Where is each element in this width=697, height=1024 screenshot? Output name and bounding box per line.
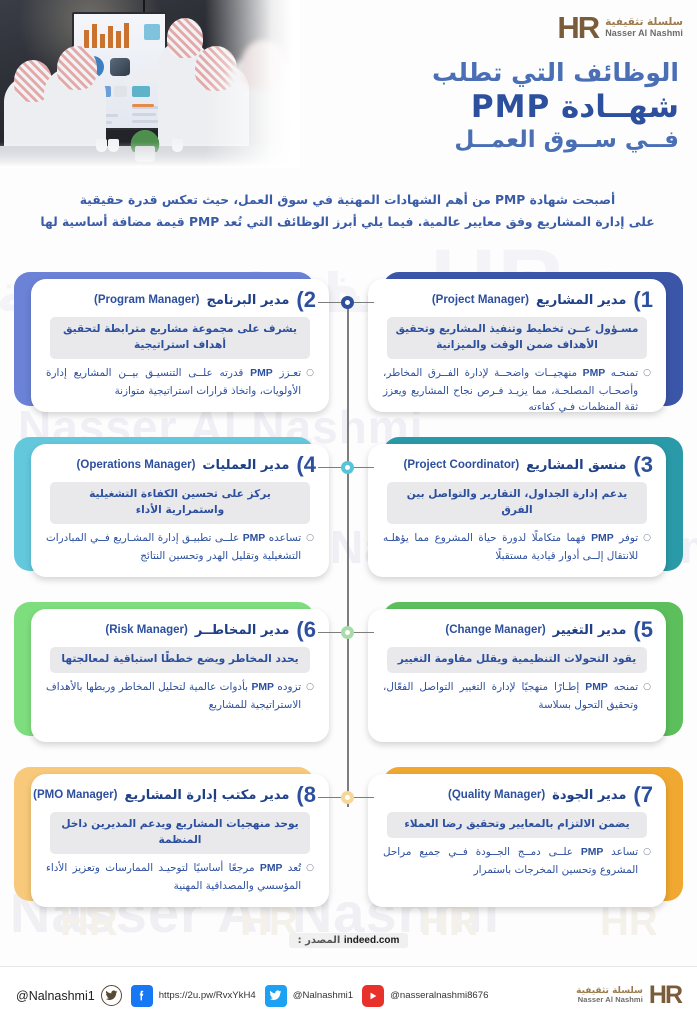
hr-monogram-icon: HR <box>557 12 598 43</box>
connector-node-row-2 <box>341 461 355 475</box>
job-card-5: 5مدير التغيير(Change Manager)يقود التحول… <box>368 602 683 742</box>
card-role-arabic: مدير الجودة <box>552 788 626 803</box>
card-header: 7مدير الجودة(Quality Manager) <box>381 784 653 806</box>
title-line-2: شهــادة PMP <box>259 89 679 127</box>
bullet-marker-icon: ○ <box>306 860 314 895</box>
card-description: يوحد منهجيات المشاريع ويدعم المديرين داخ… <box>50 812 310 854</box>
connector-dot <box>341 626 354 639</box>
card-number: 3 <box>633 454 653 476</box>
card-number: 1 <box>633 289 653 311</box>
bullet-marker-icon: ○ <box>643 844 651 879</box>
bullet-marker-icon: ○ <box>643 365 651 417</box>
intro-paragraph: أصبحت شهادة PMP من أهم الشهادات المهنية … <box>20 190 675 233</box>
connector-stem-right <box>354 302 374 303</box>
source-note: indeed.com المصدر : <box>289 933 409 948</box>
card-panel: 8مدير مكتب إدارة المشاريع(PMO Manager)يو… <box>31 774 329 907</box>
bullet-marker-icon: ○ <box>306 530 314 565</box>
bullet-marker-icon: ○ <box>306 365 314 400</box>
job-card-4: 4مدير العمليات(Operations Manager)يركز ع… <box>14 437 329 577</box>
card-bullet-text: توفر PMP فهما متكاملًا لدورة حياة المشرو… <box>383 530 638 565</box>
connector-stem-left <box>318 797 342 798</box>
card-description: يضمن الالتزام بالمعايير وتحقيق رضا العمل… <box>387 812 647 838</box>
card-bullet-text: تعـزز PMP قدرته علــى التنسيـق بيــن الم… <box>46 365 301 400</box>
card-role-english: (Quality Manager) <box>448 789 545 801</box>
connector-stem-left <box>318 302 342 303</box>
bullet-marker-icon: ○ <box>643 530 651 565</box>
card-bullet-text: تُعد PMP مرجعًا أساسيًا لتوحيـد الممارسا… <box>46 860 301 895</box>
footer-item-twitter-ring[interactable]: @Nalnashmi1 <box>16 985 122 1006</box>
connector-node-row-3 <box>341 626 355 640</box>
job-card-1: 1مدير المشاريع(Project Manager)مسـؤول عـ… <box>368 272 683 412</box>
card-role-arabic: مدير العمليات <box>202 458 289 473</box>
card-role-english: (PMO Manager) <box>33 789 117 801</box>
footer-bar: @Nalnashmi1 https://2u.pw/RvxYkH4 @Nalna… <box>0 966 697 1024</box>
footer-item-youtube[interactable]: @nasseralnashmi8676 <box>362 985 488 1007</box>
card-header: 4مدير العمليات(Operations Manager) <box>44 454 316 476</box>
card-description: يشرف على مجموعة مشاريع مترابطة لتحقيق أه… <box>50 317 310 359</box>
card-description: يدعم إدارة الجداول، التقارير والتواصل بي… <box>387 482 647 524</box>
card-number: 7 <box>633 784 653 806</box>
card-role-english: (Change Manager) <box>445 624 545 636</box>
card-header: 5مدير التغيير(Change Manager) <box>381 619 653 641</box>
intro-line-1: أصبحت شهادة PMP من أهم الشهادات المهنية … <box>20 190 675 212</box>
brand-logo-english: Nasser Al Nashmi <box>605 28 683 38</box>
card-panel: 7مدير الجودة(Quality Manager)يضمن الالتز… <box>368 774 666 907</box>
connector-stem-left <box>318 632 342 633</box>
bullet-marker-icon: ○ <box>306 679 314 714</box>
card-bullet: ○تساعده PMP علــى تطبيـق إدارة المشـاريع… <box>44 530 316 565</box>
connector-dot <box>341 296 354 309</box>
job-card-8: 8مدير مكتب إدارة المشاريع(PMO Manager)يو… <box>14 767 329 907</box>
footer-handle-3: @nasseralnashmi8676 <box>390 990 488 1001</box>
connector-stem-left <box>318 467 342 468</box>
card-panel: 1مدير المشاريع(Project Manager)مسـؤول عـ… <box>368 279 666 412</box>
card-bullet: ○تمنحـه PMP منهجيــات واضحــة لإدارة الف… <box>381 365 653 417</box>
card-bullet: ○تساعد PMP علــى دمــج الجــودة فــي جمي… <box>381 844 653 879</box>
card-header: 2مدير البرنامج(Program Manager) <box>44 289 316 311</box>
card-role-english: (Project Coordinator) <box>404 459 520 471</box>
connector-stem-right <box>354 467 374 468</box>
card-number: 6 <box>296 619 316 641</box>
card-header: 6مدير المخاطــر(Risk Manager) <box>44 619 316 641</box>
card-bullet: ○تمنحه PMP إطـارًا منهجيًا لإدارة التغيي… <box>381 679 653 714</box>
card-panel: 4مدير العمليات(Operations Manager)يركز ع… <box>31 444 329 577</box>
job-card-7: 7مدير الجودة(Quality Manager)يضمن الالتز… <box>368 767 683 907</box>
footer-handle-1: @Nalnashmi1 <box>16 989 95 1003</box>
card-role-arabic: منسق المشاريع <box>526 458 626 473</box>
card-panel: 5مدير التغيير(Change Manager)يقود التحول… <box>368 609 666 742</box>
footer-handle-2: @Nalnashmi1 <box>293 990 353 1001</box>
card-number: 5 <box>633 619 653 641</box>
page-title: الوظائف التي تطلب شهــادة PMP فــي ســوق… <box>259 58 679 155</box>
card-description: مسـؤول عــن تخطيط وتنفيذ المشاريع وتحقيق… <box>387 317 647 359</box>
footer-link-facebook: https://2u.pw/RvxYkH4 <box>159 990 256 1001</box>
card-header: 8مدير مكتب إدارة المشاريع(PMO Manager) <box>44 784 316 806</box>
job-card-2: 2مدير البرنامج(Program Manager)يشرف على … <box>14 272 329 412</box>
footer-item-facebook[interactable]: https://2u.pw/RvxYkH4 <box>131 985 256 1007</box>
card-bullet-text: تساعده PMP علــى تطبيـق إدارة المشـاريع … <box>46 530 301 565</box>
card-description: يقود التحولات التنظيمية ويقلل مقاومة الت… <box>387 647 647 673</box>
twitter-ring-icon[interactable] <box>101 985 122 1006</box>
card-bullet-text: تساعد PMP علــى دمــج الجــودة فــي جميع… <box>383 844 638 879</box>
card-role-arabic: مدير المشاريع <box>536 293 626 308</box>
card-panel: 6مدير المخاطــر(Risk Manager)يحدد المخاط… <box>31 609 329 742</box>
card-role-arabic: مدير البرنامج <box>206 293 289 308</box>
youtube-icon[interactable] <box>362 985 384 1007</box>
card-header: 3منسق المشاريع(Project Coordinator) <box>381 454 653 476</box>
card-description: يحدد المخاطر ويضع خططًا استباقية لمعالجت… <box>50 647 310 673</box>
brand-logo-arabic: سلسلة تثقيفية <box>605 16 683 28</box>
facebook-icon[interactable] <box>131 985 153 1007</box>
footer-brand-logo: سلسلة تثقيفية Nasser Al Nashmi HR <box>576 983 681 1008</box>
card-number: 4 <box>296 454 316 476</box>
job-card-3: 3منسق المشاريع(Project Coordinator)يدعم … <box>368 437 683 577</box>
job-card-6: 6مدير المخاطــر(Risk Manager)يحدد المخاط… <box>14 602 329 742</box>
connector-node-row-1 <box>341 296 355 310</box>
card-header: 1مدير المشاريع(Project Manager) <box>381 289 653 311</box>
card-role-english: (Project Manager) <box>432 294 529 306</box>
source-label: المصدر : <box>298 935 341 946</box>
card-role-arabic: مدير المخاطــر <box>195 623 290 638</box>
bullet-marker-icon: ○ <box>643 679 651 714</box>
card-bullet: ○تُعد PMP مرجعًا أساسيًا لتوحيـد الممارس… <box>44 860 316 895</box>
title-line-1: الوظائف التي تطلب <box>259 58 679 89</box>
card-role-english: (Operations Manager) <box>77 459 196 471</box>
card-role-english: (Risk Manager) <box>105 624 187 636</box>
card-role-arabic: مدير التغيير <box>553 623 627 638</box>
card-bullet: ○تزوده PMP بأدوات عالمية لتحليل المخاطر … <box>44 679 316 714</box>
connector-spine <box>347 297 349 807</box>
footer-item-twitter[interactable]: @Nalnashmi1 <box>265 985 353 1007</box>
card-panel: 2مدير البرنامج(Program Manager)يشرف على … <box>31 279 329 412</box>
twitter-icon[interactable] <box>265 985 287 1007</box>
connector-stem-right <box>354 632 374 633</box>
connector-dot <box>341 791 354 804</box>
connector-dot <box>341 461 354 474</box>
title-line-3: فــي ســوق العمــل <box>259 126 679 155</box>
connector-stem-right <box>354 797 374 798</box>
card-bullet: ○تعـزز PMP قدرته علــى التنسيـق بيــن ال… <box>44 365 316 400</box>
card-panel: 3منسق المشاريع(Project Coordinator)يدعم … <box>368 444 666 577</box>
connector-node-row-4 <box>341 791 355 805</box>
card-bullet-text: تمنحه PMP إطـارًا منهجيًا لإدارة التغيير… <box>383 679 638 714</box>
card-bullet: ○توفر PMP فهما متكاملًا لدورة حياة المشر… <box>381 530 653 565</box>
card-description: يركز على تحسين الكفاءة التشغيلية واستمرا… <box>50 482 310 524</box>
card-number: 2 <box>296 289 316 311</box>
source-domain: indeed.com <box>344 935 400 946</box>
infographic-page: سلسلة تثقيفية سلسلة تثقيفية Nasser Al Na… <box>0 0 697 1024</box>
header-photo <box>0 0 300 168</box>
intro-line-2: على إدارة المشاريع وفق معايير عالمية. في… <box>20 212 675 234</box>
footer-logo-english: Nasser Al Nashmi <box>576 996 643 1005</box>
card-number: 8 <box>296 784 316 806</box>
card-role-arabic: مدير مكتب إدارة المشاريع <box>124 788 289 803</box>
brand-logo: سلسلة تثقيفية Nasser Al Nashmi HR <box>557 12 683 43</box>
card-bullet-text: تزوده PMP بأدوات عالمية لتحليل المخاطر و… <box>46 679 301 714</box>
card-bullet-text: تمنحـه PMP منهجيــات واضحــة لإدارة الفـ… <box>383 365 638 417</box>
card-role-english: (Program Manager) <box>94 294 199 306</box>
footer-hr-monogram-icon: HR <box>649 983 681 1008</box>
